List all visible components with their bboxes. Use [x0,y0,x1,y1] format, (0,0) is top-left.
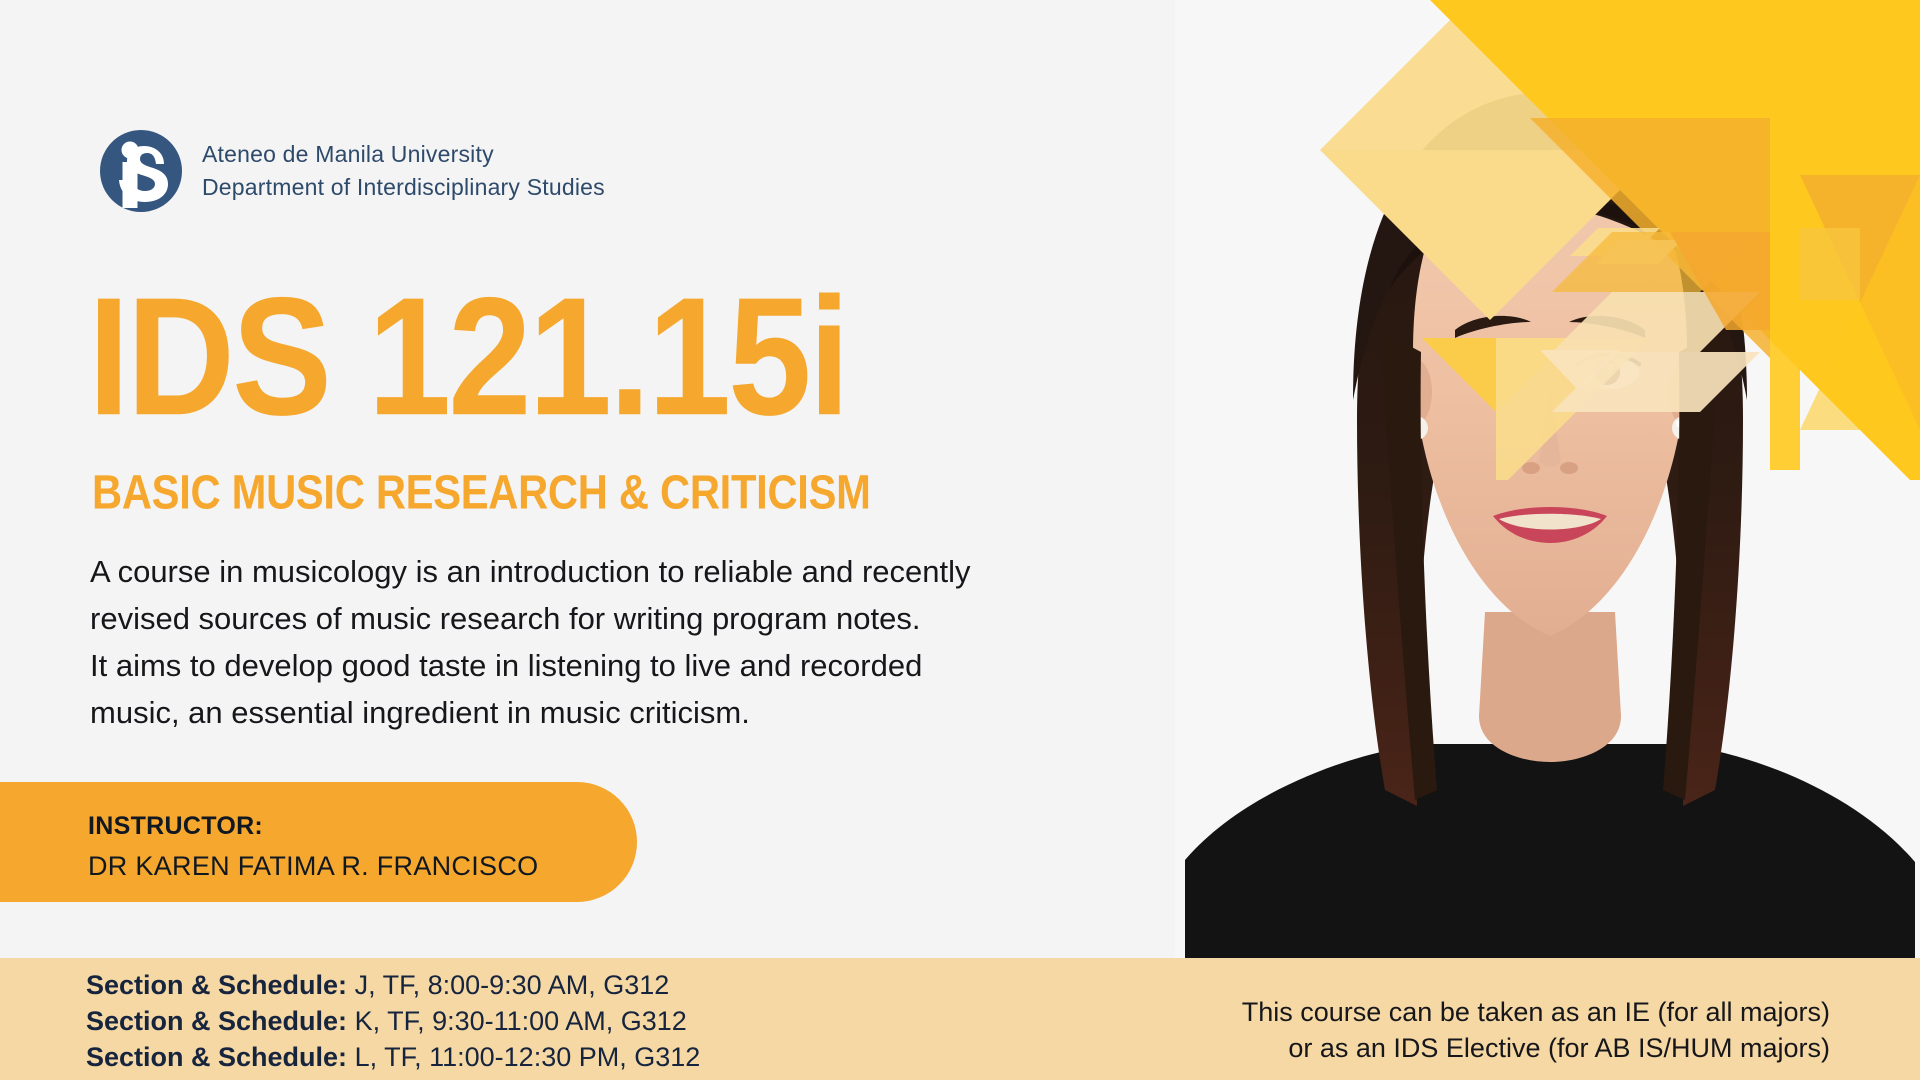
schedule-label: Section & Schedule: [86,1042,347,1072]
logo-university-line: Ateneo de Manila University [202,138,605,171]
schedule-row: Section & Schedule: K, TF, 9:30-11:00 AM… [86,1004,700,1040]
schedule-value: K, TF, 9:30-11:00 AM, G312 [355,1006,687,1036]
instructor-banner [0,782,637,902]
instructor-name: DR KAREN FATIMA R. FRANCISCO [88,851,538,882]
schedule-label: Section & Schedule: [86,1006,347,1036]
course-code: IDS 121.15i [88,272,847,440]
schedule-label: Section & Schedule: [86,970,347,1000]
course-description: A course in musicology is an introductio… [90,548,1120,736]
schedule-value: J, TF, 8:00-9:30 AM, G312 [355,970,670,1000]
is-logo-icon [100,130,182,212]
course-poster: Ateneo de Manila University Department o… [0,0,1920,1080]
course-subtitle: BASIC MUSIC RESEARCH & CRITICISM [92,466,871,521]
logo-department-line: Department of Interdisciplinary Studies [202,171,605,204]
schedule-row: Section & Schedule: L, TF, 11:00-12:30 P… [86,1040,700,1076]
course-eligibility-note: This course can be taken as an IE (for a… [1242,994,1830,1067]
department-logo: Ateneo de Manila University Department o… [100,130,605,212]
schedule-list: Section & Schedule: J, TF, 8:00-9:30 AM,… [86,968,700,1076]
schedule-row: Section & Schedule: J, TF, 8:00-9:30 AM,… [86,968,700,1004]
instructor-portrait-photo [1175,0,1920,958]
instructor-label: INSTRUCTOR: [88,812,263,841]
logo-text: Ateneo de Manila University Department o… [202,138,605,203]
schedule-value: L, TF, 11:00-12:30 PM, G312 [355,1042,701,1072]
